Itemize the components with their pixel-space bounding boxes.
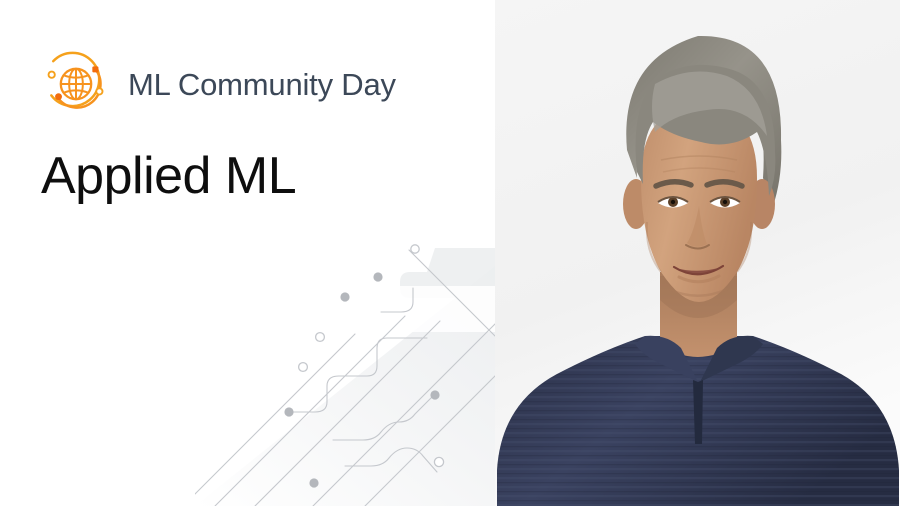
circuit-trace-graphic <box>195 236 495 506</box>
slide-title: Applied ML <box>41 147 296 207</box>
speaker-portrait <box>495 0 900 506</box>
brand-wordmark: ML Community Day <box>128 69 396 100</box>
decor-slab-notch <box>373 286 495 332</box>
globe-orbit-icon <box>38 46 114 122</box>
portrait-pupil-left <box>671 200 675 204</box>
speaker-portrait-panel <box>495 0 900 506</box>
decor-slab-upper <box>400 248 495 298</box>
decor-node-group-hollow <box>299 245 444 467</box>
decor-wedge-large <box>195 266 495 506</box>
portrait-pupil-right <box>723 200 727 204</box>
decor-trace-lines <box>195 250 495 506</box>
decor-node-group-filled <box>280 272 439 506</box>
brand-lockup: ML Community Day <box>38 46 396 122</box>
left-content-panel: ML Community Day Applied ML <box>0 0 495 506</box>
presentation-slide: ML Community Day Applied ML <box>0 0 900 506</box>
